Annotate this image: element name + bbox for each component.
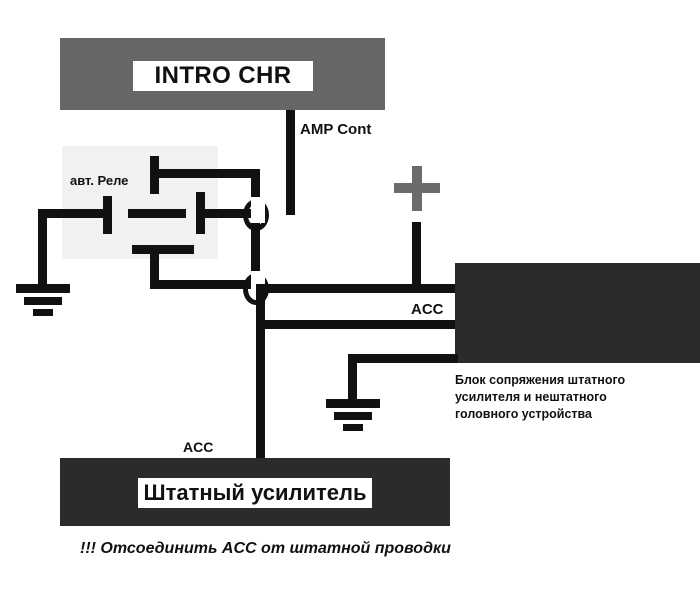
relay-contact-floating-bar <box>128 209 186 218</box>
warning-note: !!! Отсоединить ACC от штатной проводки <box>80 540 451 558</box>
relay-contact-bottom-arm <box>132 245 194 254</box>
wire-hop-upper-mask <box>251 197 265 223</box>
amp-cont-label: AMP Cont <box>300 120 371 140</box>
right-ground-bar-3 <box>343 424 363 431</box>
interface-block-caption-line2: усилителя и нештатного <box>455 389 625 406</box>
acc-label-interface: ACC <box>411 300 444 320</box>
wire-right-ground-vertical <box>348 354 357 403</box>
wire-acc-upper-rail <box>256 284 460 293</box>
interface-block-caption-line1: Блок сопряжения штатного <box>455 372 625 389</box>
relay-contact-mid-left-arm <box>38 209 112 218</box>
wire-relay-to-left-ground <box>38 209 47 284</box>
wiring-diagram-canvas: INTRO CHR AMP Cont авт. Реле ACC ACC <box>0 0 700 615</box>
acc-label-amp: ACC <box>183 438 213 457</box>
relay-label: авт. Реле <box>70 172 128 190</box>
stock-amplifier-label-plate: Штатный усилитель <box>138 478 372 508</box>
interface-block-caption-line3: головного устройства <box>455 406 625 423</box>
wire-acc-lower-rail <box>256 320 460 329</box>
interface-block <box>455 263 700 363</box>
plus-icon-vertical <box>412 166 422 211</box>
wire-amp-cont-vertical <box>286 110 295 215</box>
wire-plus-to-acc-rail <box>412 222 421 284</box>
left-ground-bar-1 <box>16 284 70 293</box>
stock-amplifier-label: Штатный усилитель <box>143 480 366 506</box>
wire-acc-trunk-to-amp <box>256 289 265 461</box>
head-unit-label: INTRO CHR <box>155 62 292 90</box>
interface-block-caption: Блок сопряжения штатного усилителя и неш… <box>455 372 625 423</box>
right-ground-bar-1 <box>326 399 380 408</box>
relay-contact-top-arm <box>150 169 260 178</box>
left-ground-bar-3 <box>33 309 53 316</box>
relay-panel-background <box>62 146 218 259</box>
right-ground-bar-2 <box>334 412 372 420</box>
wire-relay-bottom-to-hop <box>150 280 256 289</box>
left-ground-bar-2 <box>24 297 62 305</box>
head-unit-label-plate: INTRO CHR <box>133 61 313 91</box>
wire-interface-to-right-ground <box>348 354 458 363</box>
